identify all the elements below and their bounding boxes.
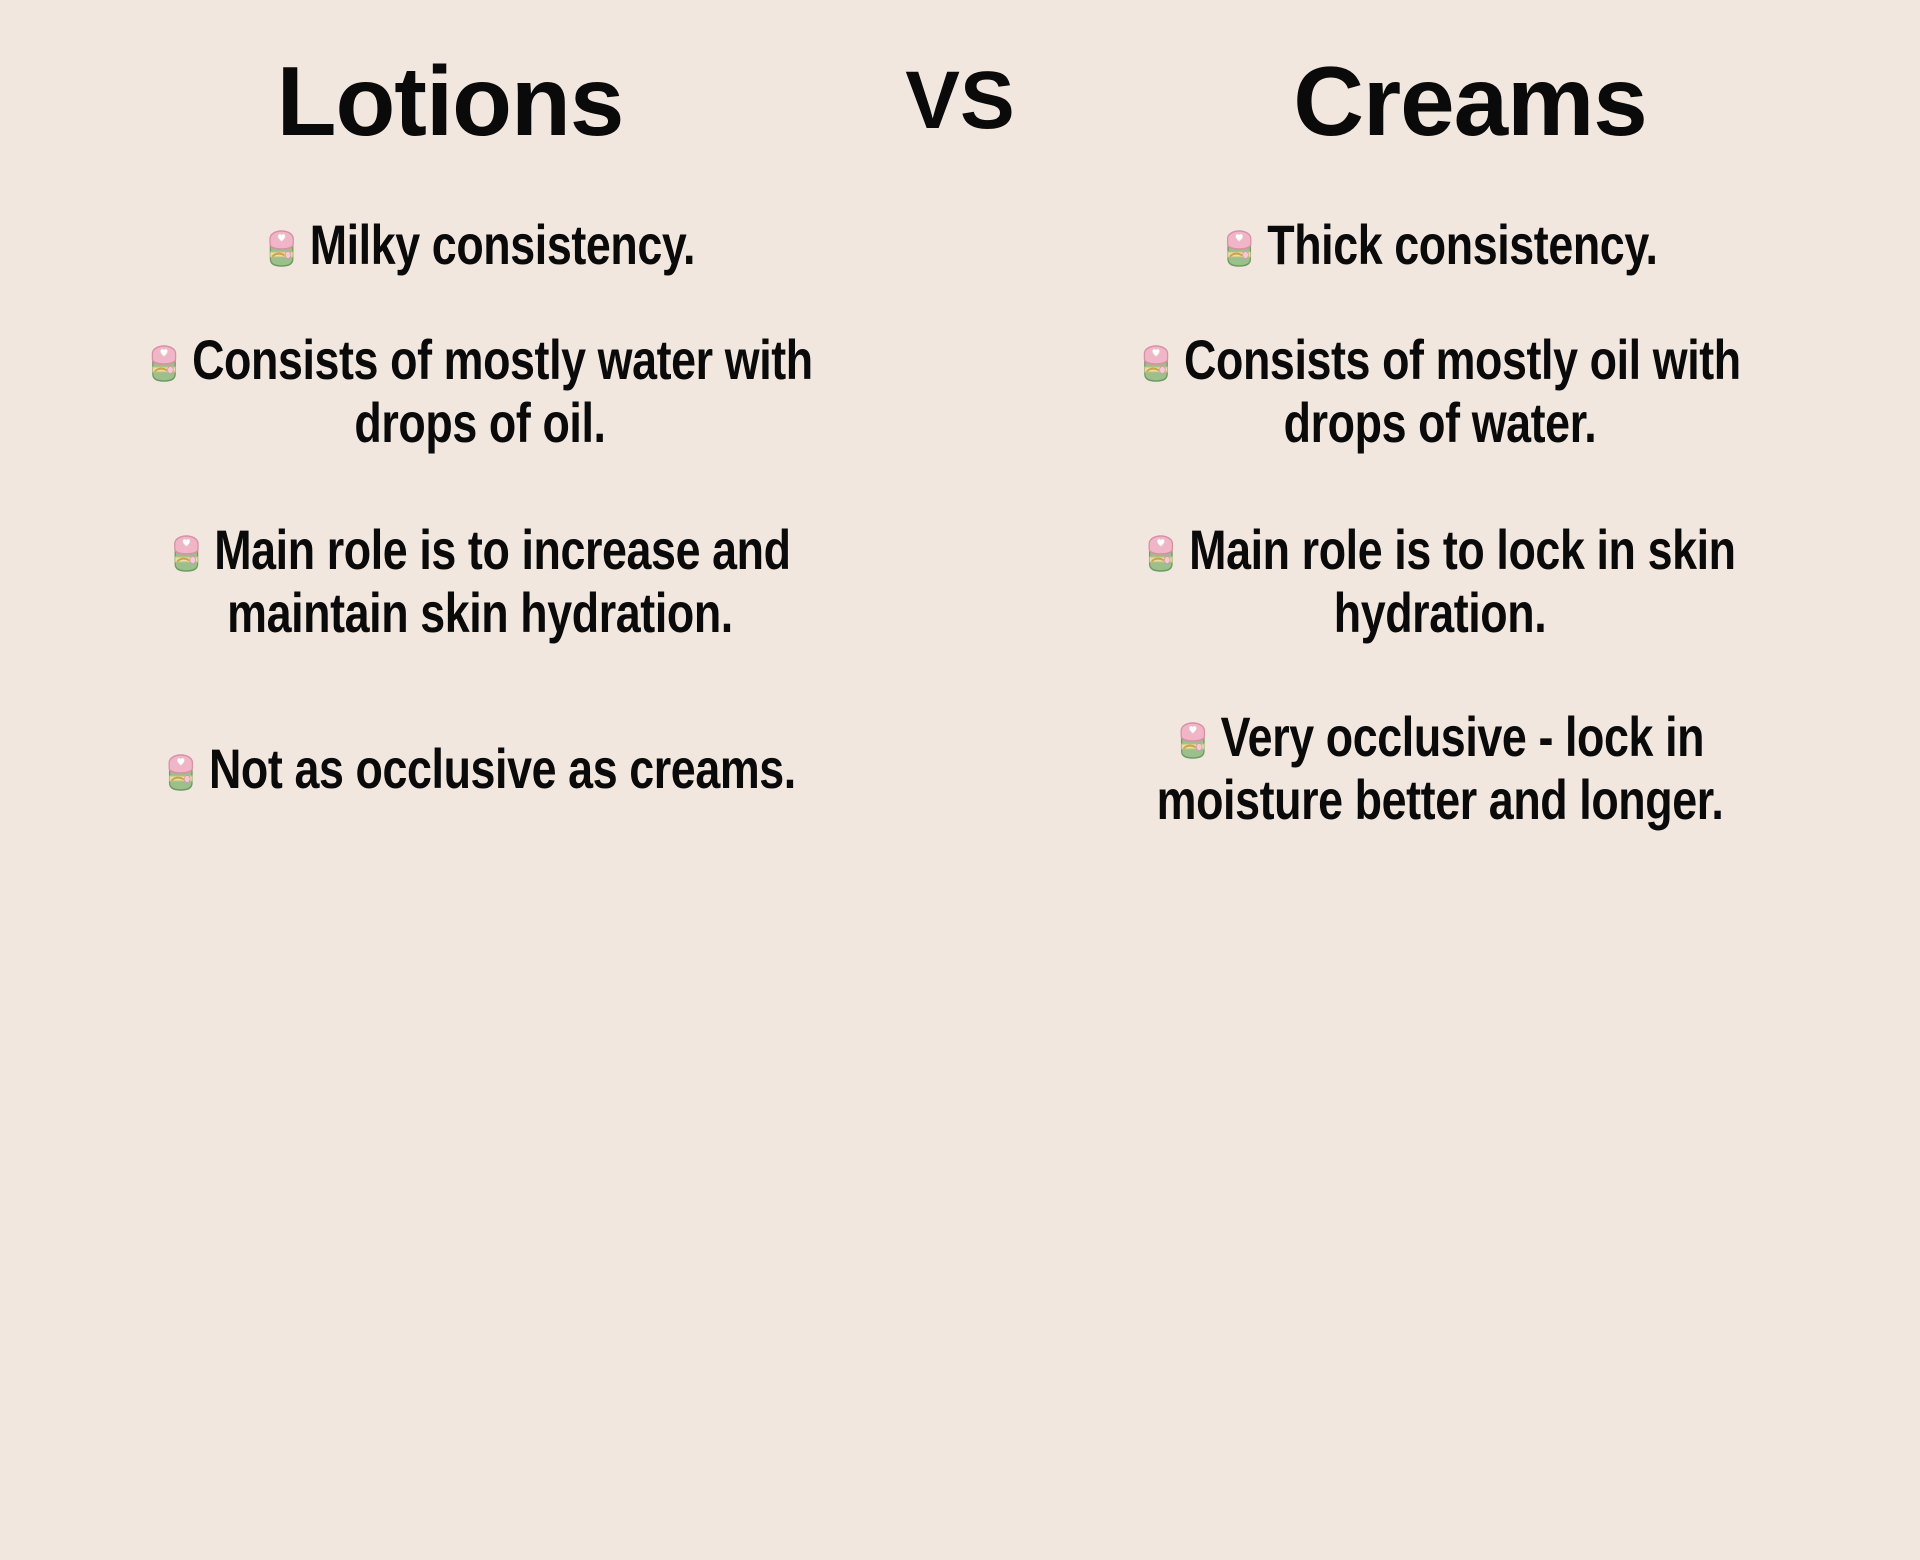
list-item: Consists of mostly oil with drops of wat… [1000,329,1880,454]
list-item: Not as occlusive as creams. [40,738,920,801]
cosmetic-jar-icon [1139,341,1173,385]
point-content: Consists of mostly oil with drops of wat… [1088,329,1792,454]
list-item: Milky consistency. [40,214,920,277]
point-content: Consists of mostly water with drops of o… [128,329,832,454]
cosmetic-jar-icon [169,531,203,575]
cosmetic-jar-icon [1176,718,1210,762]
point-text: Thick consistency. [1267,213,1657,276]
cosmetic-jar-icon [1144,531,1178,575]
cosmetic-jar-icon [164,750,198,794]
cosmetic-jar-icon [1222,226,1256,270]
page-title-lotions: Lotions [277,52,624,150]
point-text: Main role is to lock in skin hydration. [1189,518,1735,644]
list-item: Consists of mostly water with drops of o… [40,329,920,454]
list-item: Very occlusive - lock in moisture better… [1000,706,1880,831]
point-content: Milky consistency. [128,214,832,277]
comparison-columns: Milky consistency. [0,196,1920,1036]
point-text: Consists of mostly water with drops of o… [192,328,813,454]
header-row: Lotions VS Creams [0,36,1920,166]
column-lotions: Milky consistency. [0,196,960,1036]
point-text: Main role is to increase and maintain sk… [214,518,790,644]
header-cell-separator: VS [830,36,1090,166]
point-text: Very occlusive - lock in moisture better… [1157,705,1724,831]
header-cell-creams: Creams [1090,36,1850,166]
point-text: Not as occlusive as creams. [209,737,796,800]
page-title-creams: Creams [1293,52,1647,150]
column-creams: Thick consistency. [960,196,1920,1036]
cosmetic-jar-icon [265,226,299,270]
list-item: Main role is to lock in skin hydration. [1000,519,1880,644]
infographic-canvas: Lotions VS Creams [0,0,1920,1080]
header-cell-lotions: Lotions [70,36,830,166]
list-item: Thick consistency. [1000,214,1880,277]
point-content: Main role is to lock in skin hydration. [1088,519,1792,644]
point-content: Thick consistency. [1088,214,1792,277]
point-text: Milky consistency. [310,213,695,276]
cosmetic-jar-icon [147,341,181,385]
list-item: Main role is to increase and maintain sk… [40,519,920,644]
point-content: Very occlusive - lock in moisture better… [1088,706,1792,831]
point-content: Not as occlusive as creams. [128,738,832,801]
point-text: Consists of mostly oil with drops of wat… [1184,328,1741,454]
versus-label: VS [905,60,1014,142]
point-content: Main role is to increase and maintain sk… [128,519,832,644]
